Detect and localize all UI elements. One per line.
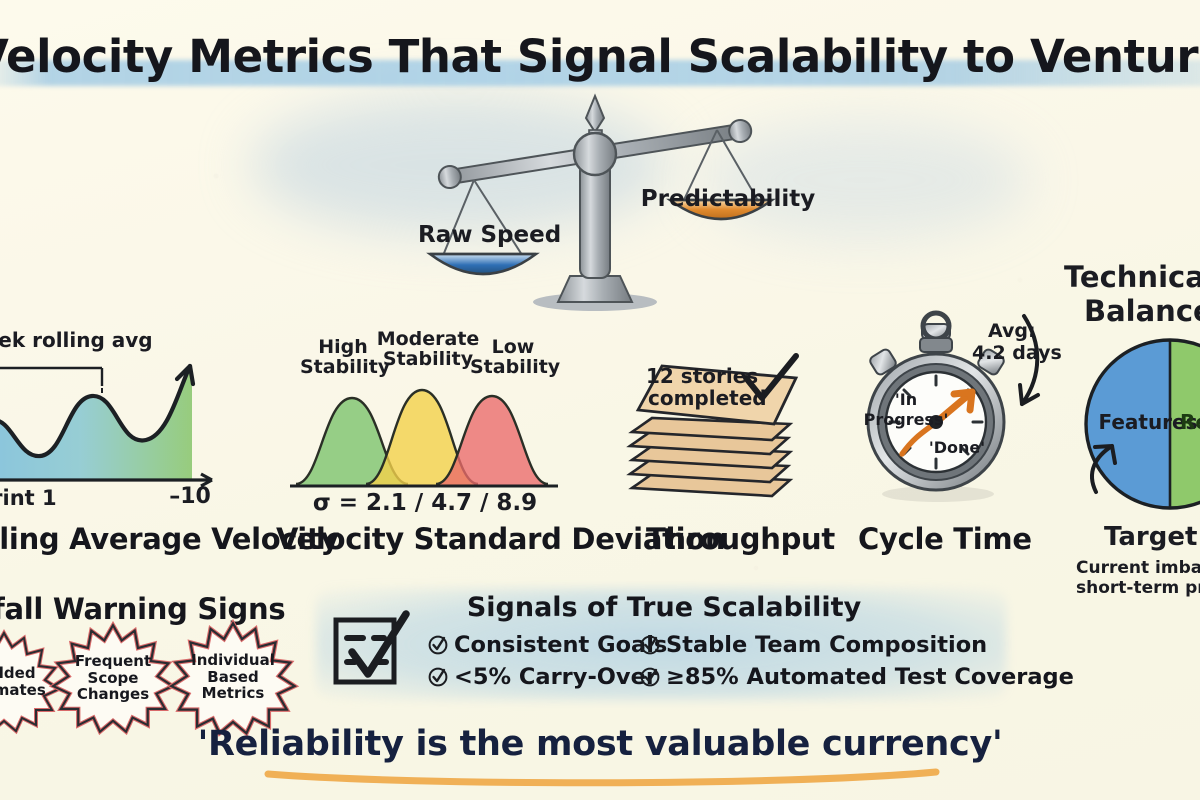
rolling-average-x-end-label: –10 bbox=[150, 486, 230, 509]
stability-label-high: High Stability bbox=[300, 338, 386, 378]
sigma-label: σ = 2.1 / 4.7 / 8.9 bbox=[300, 492, 550, 516]
technical-debt-target-label: Target: 50/50 bbox=[1104, 524, 1200, 551]
stability-label-moderate: Moderate Stability bbox=[376, 330, 480, 370]
check-circle-icon bbox=[428, 635, 448, 655]
rolling-average-annotation: 3-week rolling avg bbox=[0, 330, 184, 351]
technical-debt-caption-line-1: Technical Debt bbox=[1064, 262, 1200, 292]
check-circle-icon bbox=[428, 667, 448, 687]
technical-debt-caption-line-2: Balance bbox=[1084, 296, 1200, 326]
pitfall-badge-2: Frequent Scope Changes bbox=[50, 622, 176, 734]
signal-item-3: <5% Carry-Over bbox=[428, 664, 657, 690]
cycle-time-dial-start-label-line-1: 'In bbox=[876, 392, 936, 409]
cycle-time-dial-start-label-line-2: Progress' bbox=[856, 412, 956, 429]
check-circle-icon bbox=[640, 635, 660, 655]
signal-item-2: Stable Team Composition bbox=[640, 632, 987, 658]
pitfall-badge-3-label: Individual Based Metrics bbox=[171, 652, 295, 702]
balance-left-pan-label: Raw Speed bbox=[418, 224, 558, 248]
panel-rolling-average-velocity bbox=[0, 330, 240, 510]
closing-quote: 'Reliability is the most valuable curren… bbox=[0, 724, 1200, 764]
page-title-text: Velocity Metrics That Signal Scalability… bbox=[0, 30, 1200, 83]
rolling-average-x-start-label: Sprint 1 bbox=[0, 488, 72, 510]
throughput-caption: Throughput bbox=[646, 522, 835, 556]
signals-heading: Signals of True Scalability bbox=[404, 592, 924, 623]
throughput-card-line-2: completed bbox=[648, 388, 774, 409]
quote-underline bbox=[262, 766, 942, 788]
check-circle-icon bbox=[640, 667, 660, 687]
poster-canvas: Velocity Metrics That Signal Scalability… bbox=[0, 0, 1200, 800]
pitfall-badge-2-label: Frequent Scope Changes bbox=[55, 653, 171, 703]
stability-label-low: Low Stability bbox=[470, 338, 556, 378]
cycle-time-dial-end-label: 'Done' bbox=[922, 440, 992, 457]
cycle-time-caption: Cycle Time bbox=[858, 522, 1032, 556]
pitfall-badge-3: Individual Based Metrics bbox=[168, 620, 298, 734]
cycle-time-average-label-line-2: 4.2 days bbox=[972, 344, 1092, 364]
balance-right-pan-label: Predictability bbox=[638, 188, 818, 212]
pie-slice-label-refactoring: Refactoring bbox=[1180, 412, 1200, 433]
signal-item-4: ≥85% Automated Test Coverage bbox=[640, 664, 1074, 690]
signal-item-1: Consistent Goals bbox=[428, 632, 667, 658]
panel-velocity-standard-deviation bbox=[290, 368, 560, 498]
throughput-card-line-1: 12 stories bbox=[646, 366, 766, 387]
cycle-time-average-label-line-1: Avg: bbox=[988, 322, 1078, 342]
page-title: Velocity Metrics That Signal Scalability… bbox=[0, 30, 1200, 94]
checklist-icon bbox=[330, 612, 412, 692]
technical-debt-note-line-1: Current imbalance from bbox=[1076, 560, 1200, 578]
technical-debt-note-line-2: short-term priorities bbox=[1076, 580, 1200, 598]
